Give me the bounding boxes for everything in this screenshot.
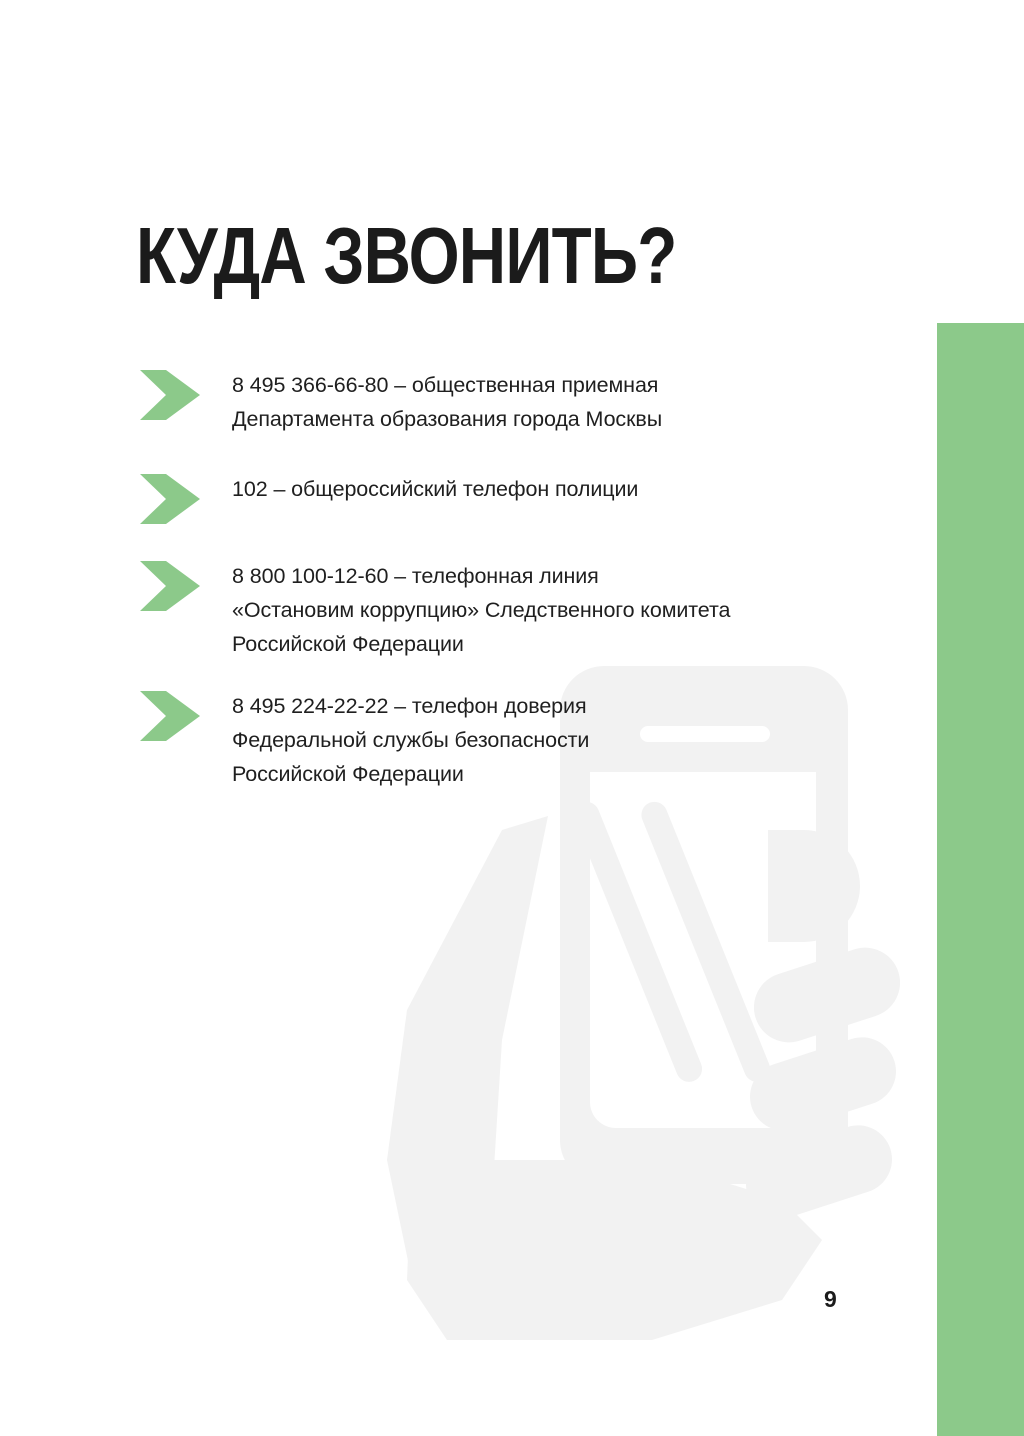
finger-shape-4 — [737, 1116, 901, 1227]
contact-text: 8 495 366-66-80 – общественная приемная … — [232, 368, 662, 436]
list-item: 8 495 366-66-80 – общественная приемная … — [140, 368, 900, 436]
contact-text: 8 495 224-22-22 – телефон доверия Федера… — [232, 689, 589, 791]
contact-text: 8 800 100-12-60 – телефонная линия «Оста… — [232, 559, 730, 661]
chevron-right-icon — [140, 370, 200, 420]
page-number: 9 — [824, 1286, 837, 1313]
green-side-bar — [937, 323, 1024, 1436]
palm-shape — [407, 1160, 822, 1340]
screen-glare-stripe-1 — [570, 798, 706, 1086]
thumb-shape — [387, 816, 592, 1340]
list-item: 102 – общероссийский телефон полиции — [140, 472, 900, 524]
contact-list: 8 495 366-66-80 – общественная приемная … — [140, 368, 900, 815]
slide-page: КУДА ЗВОНИТЬ? 8 495 366-66-80 – обществе… — [0, 0, 1024, 1436]
chevron-right-icon — [140, 474, 200, 524]
phone-screen-cutout — [590, 772, 816, 1128]
screen-glare-stripe-2 — [638, 798, 774, 1086]
chevron-right-icon — [140, 561, 200, 611]
finger-shape-1 — [768, 830, 860, 942]
list-item: 8 495 224-22-22 – телефон доверия Федера… — [140, 689, 900, 791]
contact-text: 102 – общероссийский телефон полиции — [232, 472, 638, 506]
page-title: КУДА ЗВОНИТЬ? — [136, 214, 677, 298]
chevron-right-icon — [140, 691, 200, 741]
finger-shape-3 — [741, 1028, 905, 1139]
finger-shape-2 — [745, 939, 909, 1052]
list-item: 8 800 100-12-60 – телефонная линия «Оста… — [140, 559, 900, 661]
